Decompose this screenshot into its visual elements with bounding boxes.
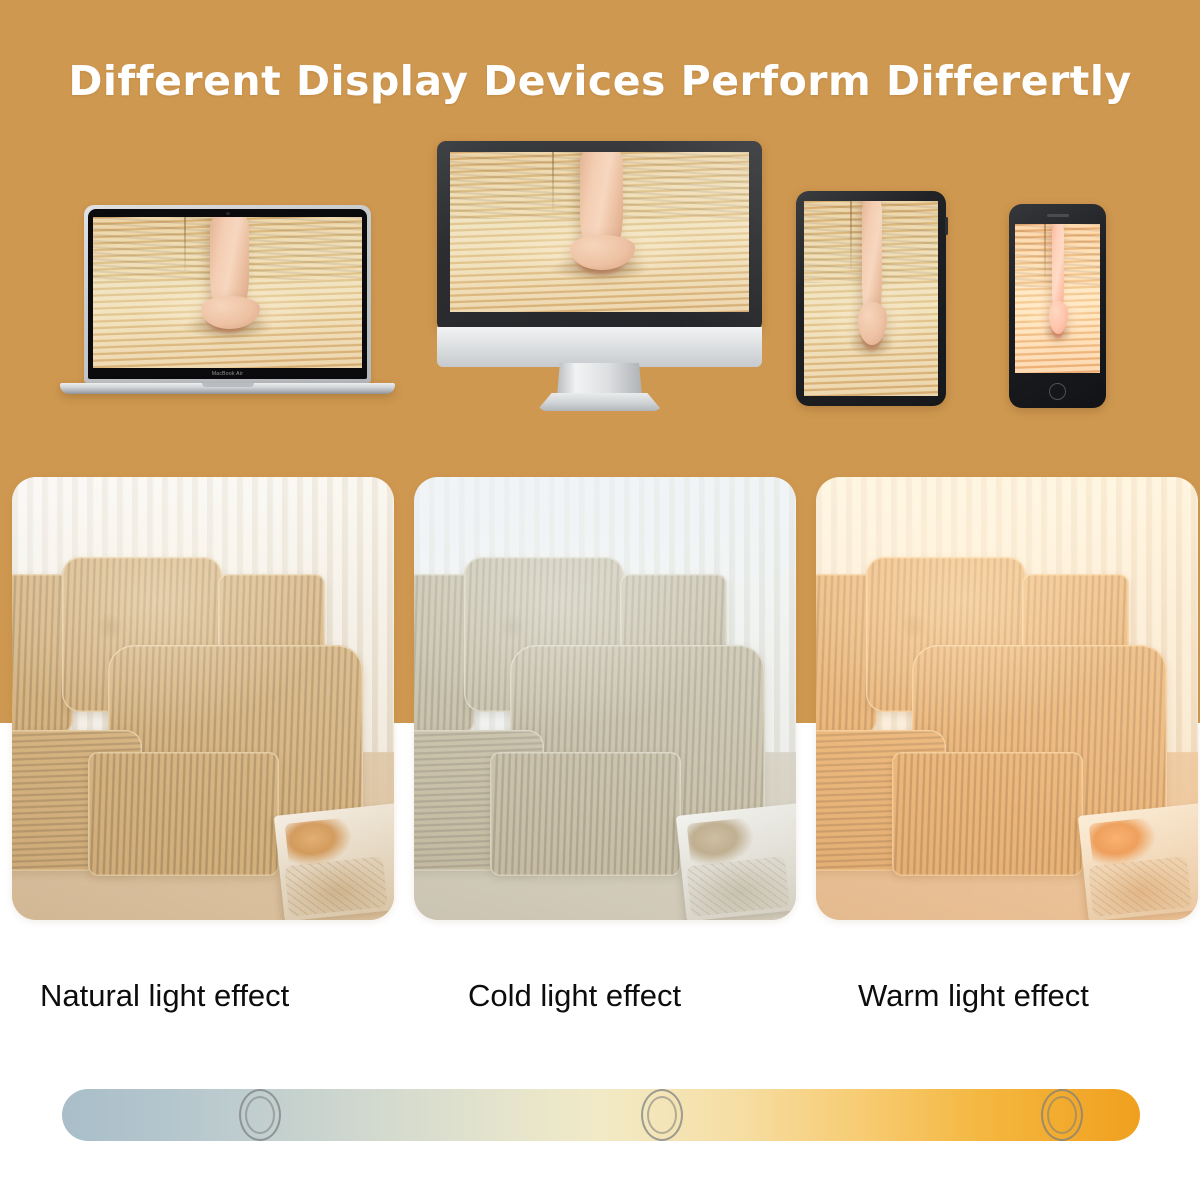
monitor-chin [437, 327, 762, 367]
photo-seam [184, 217, 186, 271]
laptop-notch [202, 383, 254, 387]
screen-photo-corduroy-foot [450, 152, 749, 312]
phone-home-button-icon [1049, 383, 1066, 400]
laptop-screen [93, 217, 362, 368]
photo-heel [570, 235, 636, 270]
slider-marker-warm[interactable] [1041, 1089, 1083, 1141]
monitor-screen [450, 152, 749, 312]
laptop-lid: MacBook Air [84, 205, 371, 383]
photo-heel [858, 302, 887, 345]
light-effect-card-cold [414, 477, 796, 920]
device-laptop: MacBook Air [60, 205, 395, 405]
device-tablet [796, 191, 946, 406]
sofa-photo-natural [12, 477, 394, 920]
slider-track[interactable] [62, 1089, 1140, 1141]
photo-heel [1049, 301, 1068, 334]
slider-marker-cold[interactable] [239, 1089, 281, 1141]
photo-seam [1044, 224, 1046, 278]
sofa-photo-cold [414, 477, 796, 920]
page-title: Different Display Devices Perform Differ… [0, 57, 1200, 105]
monitor-stand-foot [537, 393, 663, 411]
light-effect-card-natural [12, 477, 394, 920]
photo-heel [201, 296, 260, 329]
label-warm-light-effect: Warm light effect [858, 978, 1089, 1014]
screen-photo-corduroy-foot [804, 201, 938, 396]
light-effect-card-warm [816, 477, 1198, 920]
sofa-base-block [88, 752, 279, 876]
label-natural-light-effect: Natural light effect [40, 978, 289, 1014]
floor-magazine [274, 803, 394, 920]
screen-photo-corduroy-foot [93, 217, 362, 368]
light-effect-card-row [0, 477, 1200, 920]
tablet-screen [804, 201, 938, 396]
device-phone [1009, 204, 1106, 408]
floor-magazine [1078, 803, 1198, 920]
color-temperature-slider[interactable] [62, 1089, 1140, 1141]
photo-seam [552, 152, 554, 210]
photo-seam [850, 201, 852, 271]
promo-page: Different Display Devices Perform Differ… [0, 0, 1200, 1200]
device-monitor [437, 141, 762, 411]
phone-screen [1015, 224, 1100, 373]
laptop-camera-icon [226, 212, 230, 215]
phone-speaker-icon [1047, 214, 1069, 217]
laptop-brand-label: MacBook Air [88, 371, 367, 377]
slider-marker-natural[interactable] [641, 1089, 683, 1141]
sofa-photo-warm [816, 477, 1198, 920]
sofa-base-block [490, 752, 681, 876]
label-cold-light-effect: Cold light effect [468, 978, 681, 1014]
light-effect-label-row: Natural light effect Cold light effect W… [0, 978, 1200, 1024]
tablet-side-button [945, 217, 948, 235]
screen-photo-corduroy-foot [1015, 224, 1100, 373]
laptop-bezel: MacBook Air [88, 209, 367, 379]
sofa-base-block [892, 752, 1083, 876]
floor-magazine [676, 803, 796, 920]
